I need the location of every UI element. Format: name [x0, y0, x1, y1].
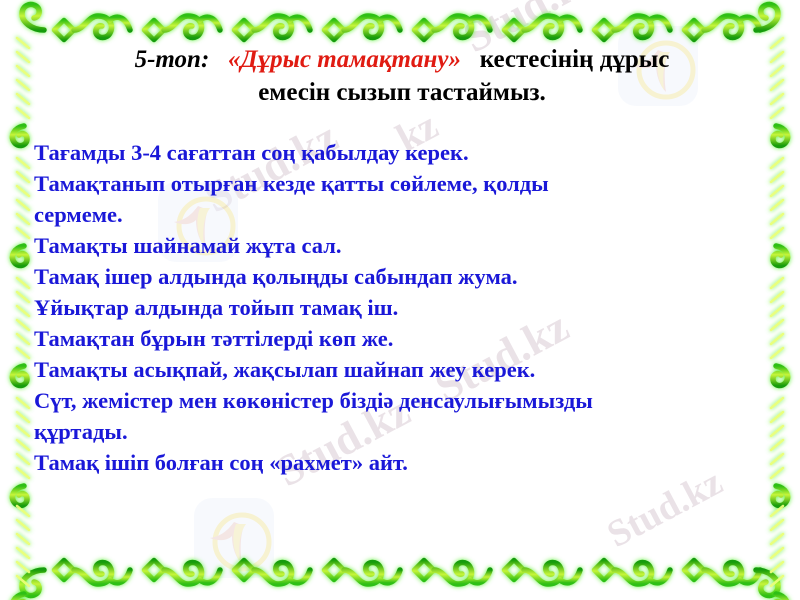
title-group-label: 5-топ:	[135, 46, 210, 73]
title-rest-line-1: кестесінің дұрыс	[480, 46, 670, 73]
title-line-1: 5-топ: «Дұрыс тамақтану» кестесінің дұры…	[52, 44, 752, 77]
slide-title: 5-топ: «Дұрыс тамақтану» кестесінің дұры…	[52, 44, 752, 109]
rule-line: Тамақты шайнамай жұта сал.	[34, 230, 754, 261]
slide-canvas: Stud.kzStud.kzStud.kz - Stud.kzStud.kzkz…	[0, 0, 800, 600]
rule-line: Тамақ ішіп болған соң «рахмет» айт.	[34, 447, 754, 478]
rule-line: Тамақ ішер алдында қолыңды сабындап жума…	[34, 261, 754, 292]
rule-line: құртады.	[34, 416, 754, 447]
rule-line: Сүт, жемістер мен көкөністер біздіә денс…	[34, 385, 754, 416]
rules-list: Тағамды 3-4 сағаттан соң қабылдау керек.…	[34, 137, 754, 478]
slide-content: 5-топ: «Дұрыс тамақтану» кестесінің дұры…	[0, 0, 800, 600]
rule-line: сермеме.	[34, 199, 754, 230]
rule-line: Ұйықтар алдында тойып тамақ іш.	[34, 292, 754, 323]
rule-line: Тамақтанып отырған кезде қатты сөйлеме, …	[34, 168, 754, 199]
rule-line: Тамақты асықпай, жақсылап шайнап жеу кер…	[34, 354, 754, 385]
title-quoted-term: «Дұрыс тамақтану»	[228, 46, 461, 73]
rule-line: Тамақтан бұрын тәттілерді көп же.	[34, 323, 754, 354]
rule-line: Тағамды 3-4 сағаттан соң қабылдау керек.	[34, 137, 754, 168]
title-line-2: емесін сызып тастаймыз.	[52, 77, 752, 110]
